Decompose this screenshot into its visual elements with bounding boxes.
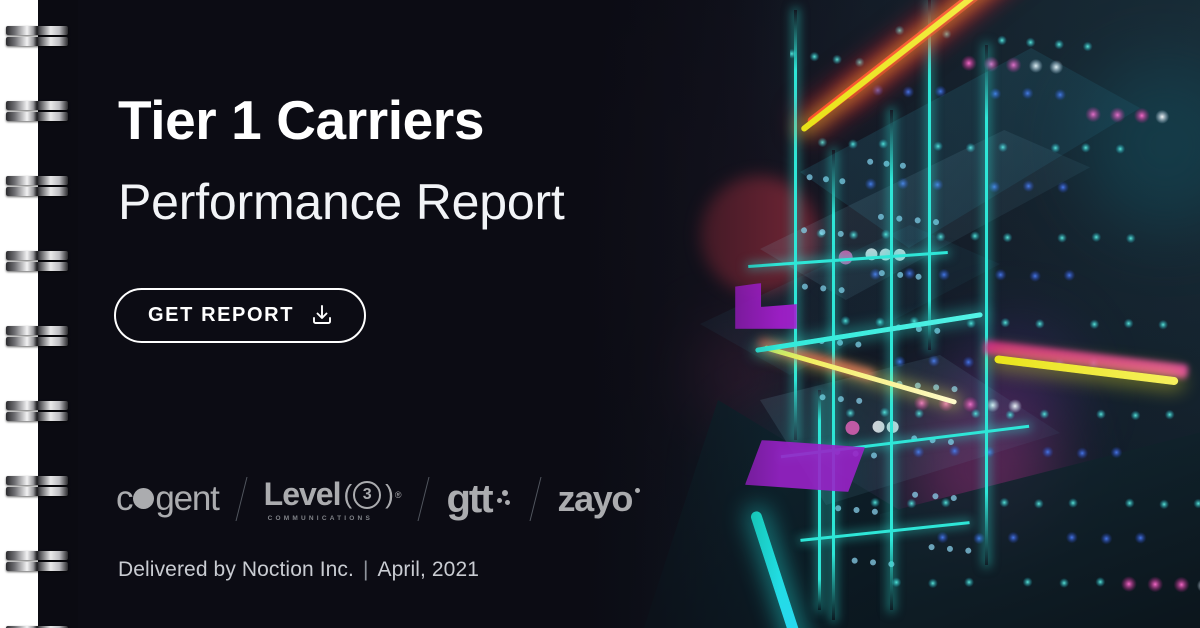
- pillar-5: [985, 45, 988, 565]
- logo-level3[interactable]: Level ( 3 ) ® COMMUNICATIONS: [264, 476, 402, 522]
- logo-separator-2: [418, 477, 430, 521]
- footer-divider: |: [363, 558, 369, 581]
- cover-content: Tier 1 Carriers Performance Report GET R…: [0, 0, 720, 628]
- footer-credit: Delivered by Noction Inc.|April, 2021: [118, 558, 479, 582]
- level3-tagline: COMMUNICATIONS: [268, 515, 373, 522]
- pillar-6: [818, 390, 821, 610]
- delivered-by-text: Delivered by Noction Inc.: [118, 558, 354, 581]
- logo-separator-3: [529, 477, 541, 521]
- pillar-4: [928, 0, 931, 350]
- get-report-label: GET REPORT: [148, 304, 294, 327]
- zayo-registered-icon: [635, 488, 640, 493]
- get-report-button[interactable]: GET REPORT: [114, 288, 366, 343]
- pillar-2: [832, 150, 835, 620]
- level3-paren-close: ): [385, 479, 394, 510]
- cogent-text-after: gent: [155, 479, 218, 519]
- pillar-3: [890, 110, 893, 610]
- carrier-logo-row: c gent Level ( 3 ) ® COMMUNICATIONS: [116, 470, 640, 528]
- level3-trademark: ®: [395, 490, 402, 500]
- page-subtitle: Performance Report: [118, 175, 565, 230]
- logo-zayo[interactable]: zayo: [558, 478, 640, 520]
- level3-number: 3: [353, 481, 381, 509]
- logo-separator-1: [235, 477, 247, 521]
- page-title: Tier 1 Carriers: [118, 92, 484, 150]
- pillar-1: [794, 10, 797, 440]
- logo-cogent[interactable]: c gent: [116, 479, 219, 519]
- gtt-dot-cluster-icon: [497, 490, 513, 508]
- cogent-text-before: c: [116, 479, 132, 519]
- logo-gtt[interactable]: gtt: [446, 477, 512, 522]
- report-date: April, 2021: [378, 558, 480, 581]
- download-icon: [310, 303, 334, 327]
- level3-paren-open: (: [343, 479, 352, 510]
- level3-word: Level: [264, 476, 341, 513]
- gtt-word: gtt: [446, 477, 491, 522]
- report-cover-banner: Tier 1 Carriers Performance Report GET R…: [0, 0, 1200, 628]
- cogent-circle-icon: [133, 488, 154, 509]
- zayo-word: zayo: [558, 478, 632, 520]
